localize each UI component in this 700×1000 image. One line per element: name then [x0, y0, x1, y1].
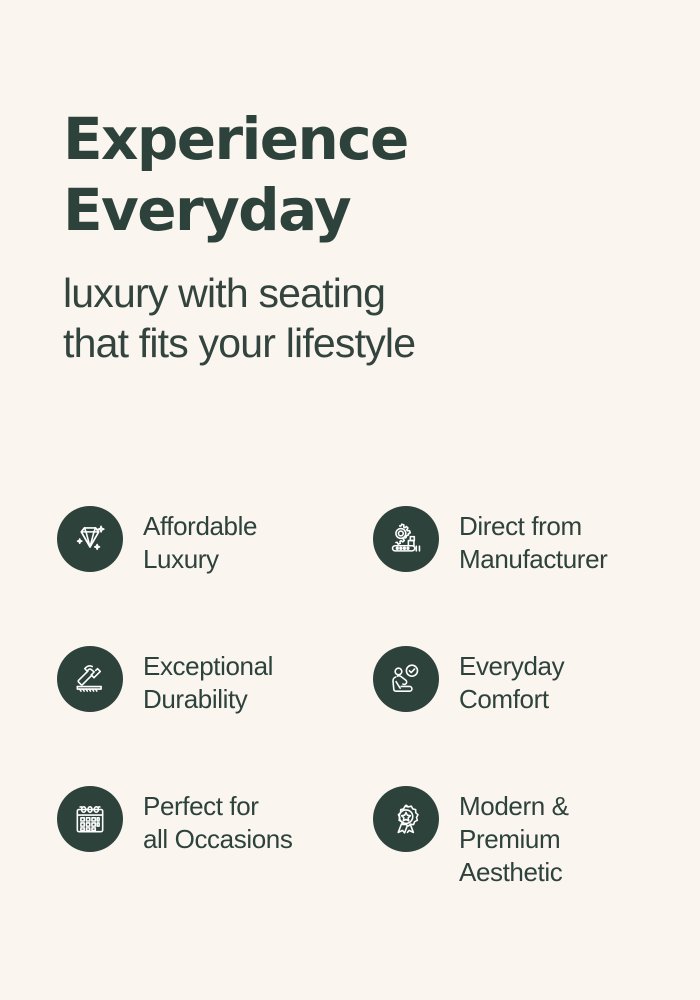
feature-label: Perfect for all Occasions: [143, 785, 292, 856]
feature-item-everyday-comfort: Everyday Comfort: [373, 645, 657, 785]
feature-label: Everyday Comfort: [459, 645, 564, 716]
feature-item-modern-premium-aesthetic: Modern & Premium Aesthetic: [373, 785, 657, 925]
feature-label: Direct from Manufacturer: [459, 505, 607, 576]
diamond-sparkle-icon: [57, 506, 123, 572]
feature-label: Affordable Luxury: [143, 505, 257, 576]
seated-person-check-icon: [373, 646, 439, 712]
page-title: Experience Everyday: [63, 104, 643, 246]
feature-label: Modern & Premium Aesthetic: [459, 785, 569, 888]
feature-item-direct-from-manufacturer: Direct from Manufacturer: [373, 505, 657, 645]
page-subtitle: luxury with seating that fits your lifes…: [63, 268, 643, 368]
feature-grid: Affordable Luxury Direct: [57, 505, 657, 925]
calendar-icon: [57, 786, 123, 852]
feature-label: Exceptional Durability: [143, 645, 273, 716]
gear-conveyor-icon: [373, 506, 439, 572]
hero-text-block: Experience Everyday luxury with seating …: [63, 104, 643, 368]
promo-poster: Experience Everyday luxury with seating …: [0, 0, 700, 1000]
feature-item-affordable-luxury: Affordable Luxury: [57, 505, 373, 645]
feature-item-exceptional-durability: Exceptional Durability: [57, 645, 373, 785]
award-rosette-icon: [373, 786, 439, 852]
feature-item-perfect-for-all-occasions: Perfect for all Occasions: [57, 785, 373, 925]
hammer-icon: [57, 646, 123, 712]
